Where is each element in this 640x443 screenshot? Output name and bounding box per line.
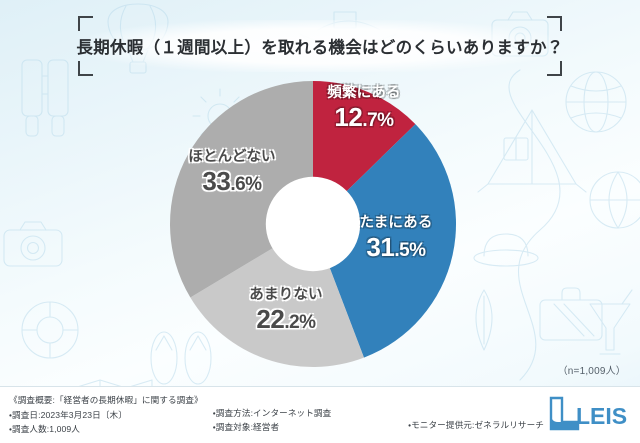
donut-chart-svg	[168, 78, 458, 370]
footer-line: 《調査概要:「経営者の長期休暇」に関する調査》	[9, 394, 203, 406]
footer-bar: 《調査概要:「経営者の長期休暇」に関する調査》 ・調査日:2023年3月23日〔…	[0, 386, 640, 443]
footer-column-left: 《調査概要:「経営者の長期休暇」に関する調査》 ・調査日:2023年3月23日〔…	[9, 394, 203, 435]
footer-line: ・調査方法:インターネット調査	[213, 407, 398, 419]
footer-line: ・調査日:2023年3月23日〔木〕	[9, 409, 203, 421]
donut-center-hole	[266, 177, 360, 271]
page-title: 長期休暇（１週間以上）を取れる機会はどのくらいありますか？	[78, 16, 562, 76]
leis-logo: LEIS	[548, 396, 630, 432]
logo-text: LEIS	[576, 403, 627, 429]
footer-column-right: ・調査方法:インターネット調査 ・調査対象:経営者	[213, 394, 398, 435]
sample-size-note: （n=1,009人）	[558, 362, 626, 377]
footer-column-far-right: ・モニター提供元:ゼネラルリサーチ	[408, 394, 544, 435]
infographic-root: 長期休暇（１週間以上）を取れる機会はどのくらいありますか？ 頻繁にある 12.7…	[0, 0, 640, 443]
footer-line	[213, 394, 398, 404]
footer-line	[408, 394, 544, 404]
footer-line: ・モニター提供元:ゼネラルリサーチ	[408, 419, 544, 431]
donut-chart	[168, 78, 458, 370]
footer-columns: 《調査概要:「経営者の長期休暇」に関する調査》 ・調査日:2023年3月23日〔…	[9, 394, 544, 435]
footer-line	[408, 407, 544, 417]
footer-line: ・調査人数:1,009人	[9, 423, 203, 435]
title-frame: 長期休暇（１週間以上）を取れる機会はどのくらいありますか？	[78, 16, 562, 76]
footer-line: ・調査対象:経営者	[213, 421, 398, 433]
